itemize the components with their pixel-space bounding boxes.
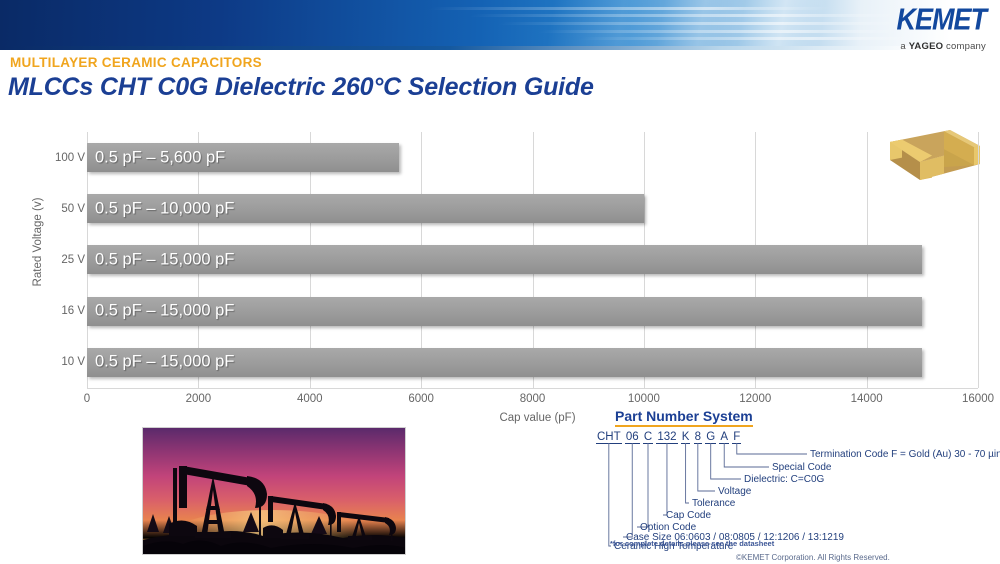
- y-axis-category-label: 100 V: [5, 152, 85, 164]
- x-axis-line: [87, 388, 978, 389]
- bar-row: 0.5 pF – 5,600 pF100 V: [87, 132, 978, 183]
- bar[interactable]: 0.5 pF – 15,000 pF: [87, 297, 922, 326]
- bar-row: 0.5 pF – 15,000 pF16 V: [87, 286, 978, 337]
- header-divider: [0, 46, 1000, 50]
- part-number-callout-label: Tolerance: [692, 498, 735, 509]
- leader-line: [637, 443, 648, 527]
- x-axis-tick-label: 2000: [186, 393, 212, 405]
- bar-row: 0.5 pF – 15,000 pF10 V: [87, 337, 978, 388]
- x-axis-tick-label: 8000: [520, 393, 546, 405]
- grid-line: [978, 132, 979, 388]
- x-axis-tick-label: 0: [84, 393, 90, 405]
- leader-line: [724, 443, 769, 467]
- y-axis-category-label: 50 V: [5, 203, 85, 215]
- x-axis-tick-label: 16000: [962, 393, 994, 405]
- logo-wordmark: KEMET: [897, 5, 987, 35]
- y-axis-category-label: 10 V: [5, 356, 85, 368]
- bar-row: 0.5 pF – 10,000 pF50 V: [87, 183, 978, 234]
- x-axis-tick-label: 6000: [408, 393, 434, 405]
- y-axis-category-label: 25 V: [5, 254, 85, 266]
- x-axis-tick-label: 4000: [297, 393, 323, 405]
- copyright-text: ©KEMET Corporation. All Rights Reserved.: [736, 553, 890, 562]
- y-axis-category-label: 16 V: [5, 305, 85, 317]
- part-number-callout-label: Termination Code F = Gold (Au) 30 - 70 µ…: [810, 449, 1000, 460]
- x-axis-tick-label: 12000: [739, 393, 771, 405]
- logo-tagline: a YAGEO company: [897, 42, 987, 52]
- plot-area: 0.5 pF – 5,600 pF100 V0.5 pF – 10,000 pF…: [87, 132, 978, 388]
- page-title: MLCCs CHT C0G Dielectric 260°C Selection…: [8, 73, 594, 102]
- bar-value-label: 0.5 pF – 5,600 pF: [95, 148, 225, 167]
- bar[interactable]: 0.5 pF – 15,000 pF: [87, 245, 922, 274]
- logo-tagline-post: company: [943, 41, 986, 52]
- bar-value-label: 0.5 pF – 15,000 pF: [95, 353, 234, 372]
- bar-row: 0.5 pF – 15,000 pF25 V: [87, 234, 978, 285]
- datasheet-note: *for complete details please see the dat…: [610, 539, 774, 548]
- part-number-callout-label: Voltage: [718, 486, 751, 497]
- leader-line: [609, 443, 611, 546]
- leader-line: [663, 443, 667, 515]
- capacitance-range-chart: Rated Voltage (v) 0.5 pF – 5,600 pF100 V…: [0, 118, 1000, 408]
- bar-value-label: 0.5 pF – 15,000 pF: [95, 302, 234, 321]
- header-streak: [537, 30, 903, 33]
- x-axis-tick-label: 10000: [628, 393, 660, 405]
- logo-tagline-brand: YAGEO: [909, 41, 943, 52]
- bar[interactable]: 0.5 pF – 10,000 pF: [87, 194, 644, 223]
- leader-line: [698, 443, 715, 491]
- header-banner: [0, 0, 1000, 46]
- part-number-system: Part Number System CHT 06 C 132 K 8 G A …: [596, 408, 996, 564]
- header-streak: [497, 22, 903, 25]
- header-streak: [577, 37, 913, 40]
- part-number-callout-label: Cap Code: [666, 510, 711, 521]
- eyebrow-text: MULTILAYER CERAMIC CAPACITORS: [10, 55, 262, 70]
- header-streak: [467, 14, 903, 17]
- logo-tagline-pre: a: [900, 41, 908, 52]
- part-number-callout-label: Dielectric: C=C0G: [744, 474, 824, 485]
- bar-value-label: 0.5 pF – 10,000 pF: [95, 199, 234, 218]
- leader-line: [623, 443, 632, 537]
- bar[interactable]: 0.5 pF – 15,000 pF: [87, 348, 922, 377]
- oil-pumpjack-sunset-image: [143, 428, 406, 555]
- header-streak: [427, 7, 833, 10]
- kemet-logo: KEMET a YAGEO company: [897, 8, 987, 52]
- x-axis-tick-label: 14000: [851, 393, 883, 405]
- application-photo: [142, 427, 406, 555]
- part-number-callout-label: Special Code: [772, 462, 831, 473]
- leader-line: [737, 443, 807, 454]
- leader-line: [686, 443, 689, 503]
- bar[interactable]: 0.5 pF – 5,600 pF: [87, 143, 399, 172]
- bar-value-label: 0.5 pF – 15,000 pF: [95, 250, 234, 269]
